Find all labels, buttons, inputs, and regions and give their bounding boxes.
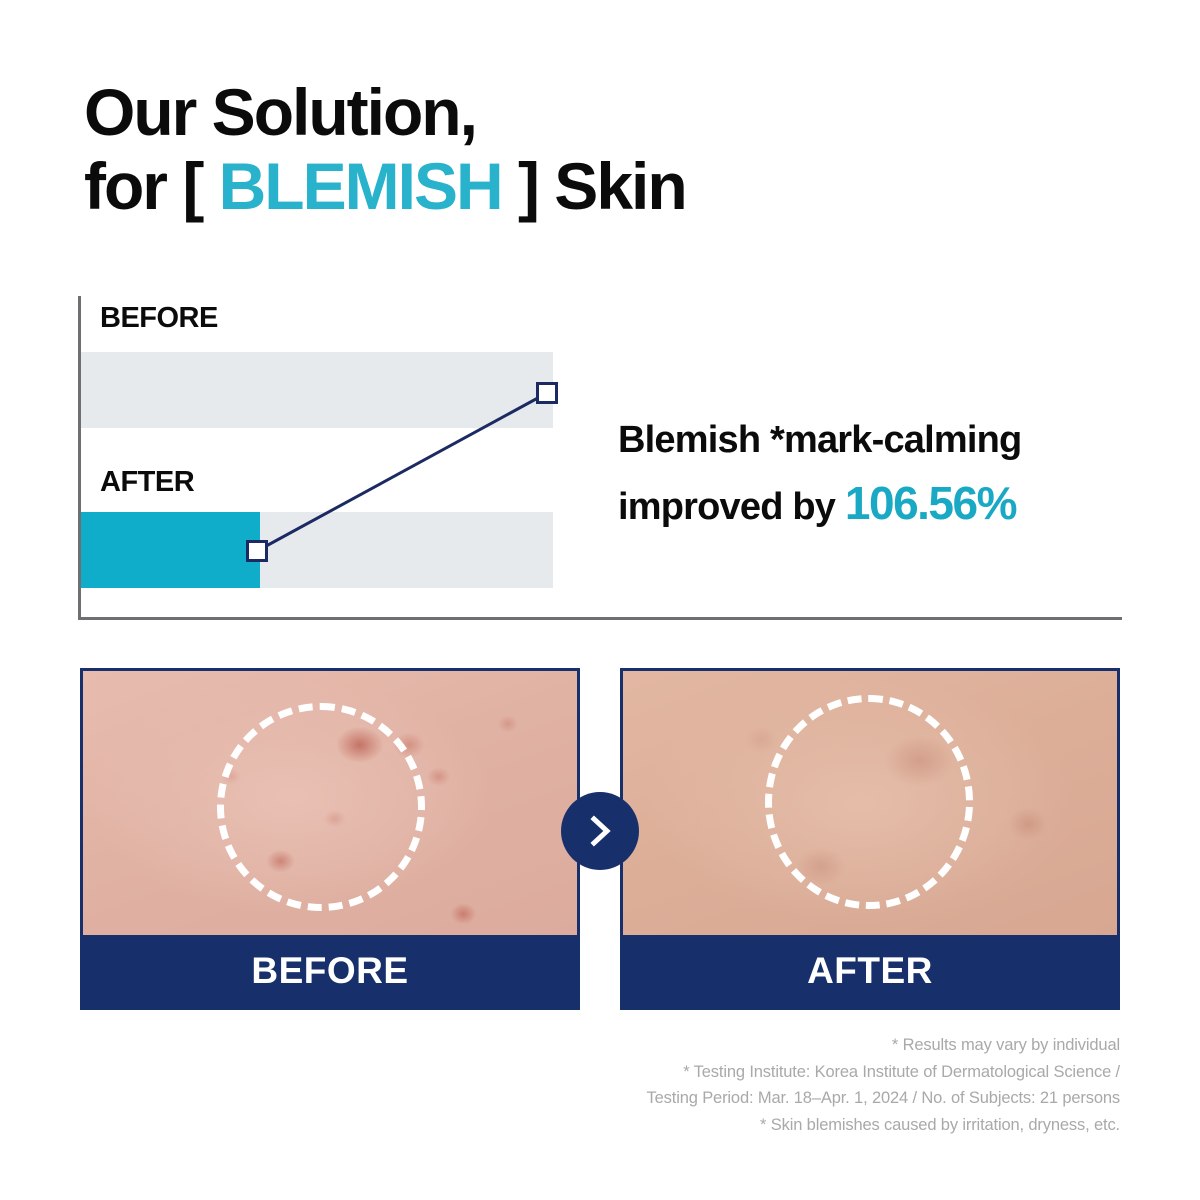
after-skin-photo [623,671,1117,935]
footnote-line: * Results may vary by individual [340,1032,1120,1059]
footnote-line: * Skin blemishes caused by irritation, d… [340,1112,1120,1139]
stat-callout: Blemish *mark-calming improved by 106.56… [618,412,1138,538]
headline-prefix: for [ [84,149,219,223]
footnote-line: * Testing Institute: Korea Institute of … [340,1059,1120,1086]
stat-line-1: Blemish *mark-calming [618,412,1138,469]
chart-marker-before [536,382,558,404]
chart-marker-after [246,540,268,562]
headline-accent-blemish: BLEMISH [219,149,502,223]
headline-line-2: for [ BLEMISH ] Skin [84,150,984,224]
stat-line-2: improved by 106.56% [618,469,1138,538]
stat-percentage-value: 106.56% [845,477,1016,529]
before-skin-photo [83,671,577,935]
before-highlight-circle [217,703,425,911]
before-caption: BEFORE [83,935,577,1007]
stat-prefix: improved by [618,486,845,528]
page-title: Our Solution, for [ BLEMISH ] Skin [84,76,984,224]
footnote-line: Testing Period: Mar. 18–Apr. 1, 2024 / N… [340,1085,1120,1112]
before-photo-panel: BEFORE [80,668,580,1010]
headline-line-1: Our Solution, [84,76,984,150]
headline-suffix: ] Skin [502,149,686,223]
after-highlight-circle [765,695,973,909]
after-caption: AFTER [623,935,1117,1007]
after-photo-panel: AFTER [620,668,1120,1010]
chevron-right-icon [561,792,639,870]
footnotes: * Results may vary by individual * Testi… [340,1032,1120,1139]
